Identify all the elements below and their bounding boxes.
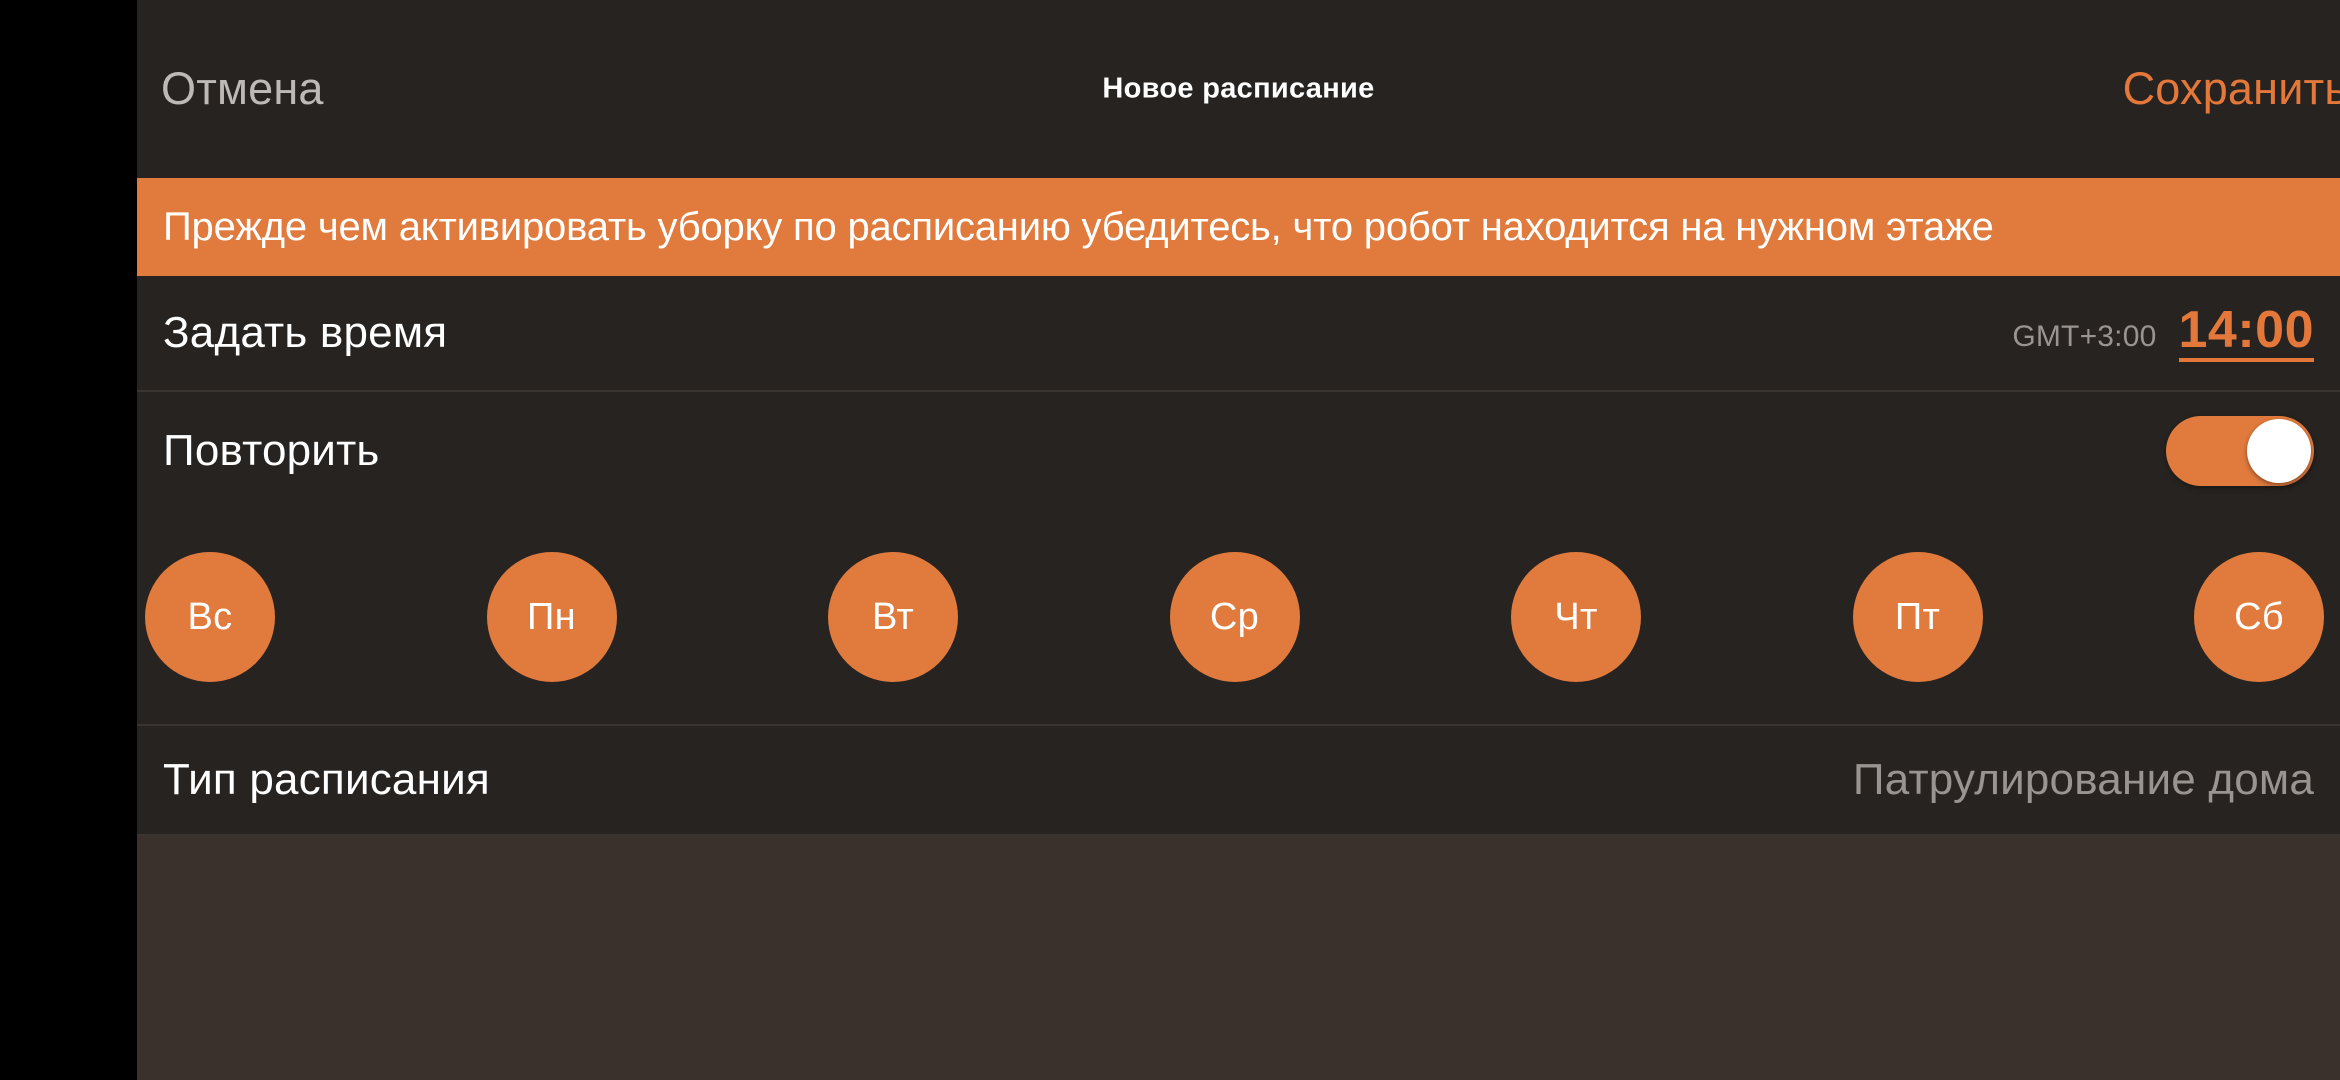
new-schedule-screen: Отмена Новое расписание Сохранить Прежде…	[137, 0, 2340, 1080]
repeat-label: Повторить	[163, 426, 380, 476]
repeat-toggle-knob	[2247, 419, 2311, 483]
day-circle-label: Вт	[872, 596, 914, 639]
day-circle-6[interactable]: Сб	[2194, 552, 2324, 682]
system-left-black-bar	[0, 0, 137, 1080]
repeat-right	[2166, 416, 2314, 486]
device-screen: Отмена Новое расписание Сохранить Прежде…	[0, 0, 2340, 1080]
day-circle-label: Пт	[1895, 596, 1940, 639]
schedule-type-right: Патрулирование дома	[1853, 755, 2314, 805]
day-selector: ВсПнВтСрЧтПтСб	[137, 510, 2340, 724]
repeat-row: Повторить	[137, 392, 2340, 510]
day-circle-0[interactable]: Вс	[145, 552, 275, 682]
day-circle-3[interactable]: Ср	[1170, 552, 1300, 682]
app-bar: Отмена Новое расписание Сохранить	[137, 0, 2340, 178]
day-circle-label: Ср	[1210, 596, 1259, 639]
warning-banner: Прежде чем активировать уборку по распис…	[137, 178, 2340, 276]
day-circle-label: Чт	[1554, 596, 1597, 639]
timezone-label: GMT+3:00	[2012, 320, 2156, 362]
time-value[interactable]: 14:00	[2179, 304, 2315, 361]
day-circle-5[interactable]: Пт	[1853, 552, 1983, 682]
schedule-type-value[interactable]: Патрулирование дома	[1853, 755, 2314, 805]
page-title: Новое расписание	[1102, 73, 1374, 106]
schedule-type-row[interactable]: Тип расписания Патрулирование дома	[137, 726, 2340, 834]
bottom-filler	[137, 836, 2340, 1080]
day-circle-label: Сб	[2234, 596, 2284, 639]
set-time-right: GMT+3:00 14:00	[2012, 304, 2314, 361]
day-circle-label: Пн	[527, 596, 576, 639]
warning-banner-text: Прежде чем активировать уборку по распис…	[163, 205, 1994, 250]
set-time-row[interactable]: Задать время GMT+3:00 14:00	[137, 276, 2340, 390]
schedule-type-label: Тип расписания	[163, 755, 490, 805]
day-circle-4[interactable]: Чт	[1511, 552, 1641, 682]
day-circle-2[interactable]: Вт	[828, 552, 958, 682]
cancel-button[interactable]: Отмена	[161, 63, 324, 115]
day-circle-1[interactable]: Пн	[487, 552, 617, 682]
set-time-label: Задать время	[163, 308, 447, 358]
save-button[interactable]: Сохранить	[2123, 63, 2340, 115]
day-circle-label: Вс	[188, 596, 233, 639]
repeat-toggle[interactable]	[2166, 416, 2314, 486]
